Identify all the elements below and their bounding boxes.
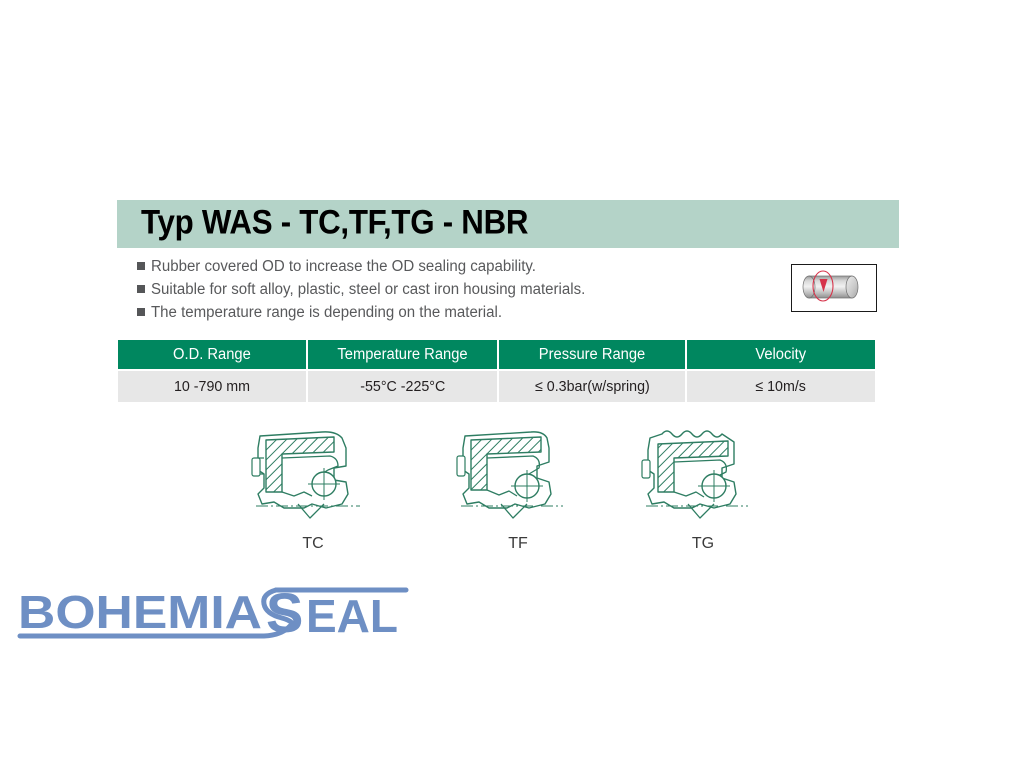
rotating-shaft-icon — [791, 264, 877, 312]
cell-od-range: 10 -790 mm — [118, 371, 306, 402]
page-title: Typ WAS - TC,TF,TG - NBR — [141, 204, 528, 243]
seal-cross-section-tg-glyph — [628, 418, 778, 530]
square-bullet-icon — [137, 262, 145, 270]
column-header-pressure-range: Pressure Range — [499, 340, 685, 369]
column-header-temperature-range: Temperature Range — [308, 340, 497, 369]
list-item: Suitable for soft alloy, plastic, steel … — [137, 280, 757, 299]
column-header-velocity: Velocity — [687, 340, 875, 369]
table-row: 10 -790 mm -55°C -225°C ≤ 0.3bar(w/sprin… — [118, 371, 875, 402]
cell-pressure-range: ≤ 0.3bar(w/spring) — [499, 371, 685, 402]
list-item-label: The temperature range is depending on th… — [151, 303, 502, 322]
square-bullet-icon — [137, 285, 145, 293]
seal-diagram-tf: TF — [443, 418, 593, 553]
rotating-shaft-glyph — [792, 265, 873, 308]
logo-word-seal-initial: S — [266, 581, 303, 644]
seal-label-tc: TC — [238, 535, 388, 553]
bohemia-seal-logo-glyph: BOHEMIA S EAL — [14, 578, 414, 648]
cell-temperature-range: -55°C -225°C — [308, 371, 497, 402]
seal-label-tg: TG — [628, 535, 778, 553]
feature-list: Rubber covered OD to increase the OD sea… — [137, 257, 757, 326]
list-item: The temperature range is depending on th… — [137, 303, 757, 322]
logo-word-seal-rest: EAL — [306, 590, 398, 642]
seal-cross-section-tf-glyph — [443, 418, 593, 530]
seal-label-tf: TF — [443, 535, 593, 553]
logo-word-bohemia: BOHEMIA — [18, 586, 262, 638]
column-header-od-range: O.D. Range — [118, 340, 306, 369]
seal-diagram-row: TC TF — [118, 418, 878, 553]
list-item: Rubber covered OD to increase the OD sea… — [137, 257, 757, 276]
company-logo: BOHEMIA S EAL — [14, 578, 414, 648]
square-bullet-icon — [137, 308, 145, 316]
list-item-label: Rubber covered OD to increase the OD sea… — [151, 257, 536, 276]
table-header-row: O.D. Range Temperature Range Pressure Ra… — [118, 340, 875, 369]
cell-velocity: ≤ 10m/s — [687, 371, 875, 402]
seal-cross-section-tc-glyph — [238, 418, 388, 530]
seal-diagram-tg: TG — [628, 418, 778, 553]
seal-diagram-tc: TC — [238, 418, 388, 553]
list-item-label: Suitable for soft alloy, plastic, steel … — [151, 280, 585, 299]
spec-table: O.D. Range Temperature Range Pressure Ra… — [118, 340, 875, 402]
title-band: Typ WAS - TC,TF,TG - NBR — [117, 200, 899, 248]
